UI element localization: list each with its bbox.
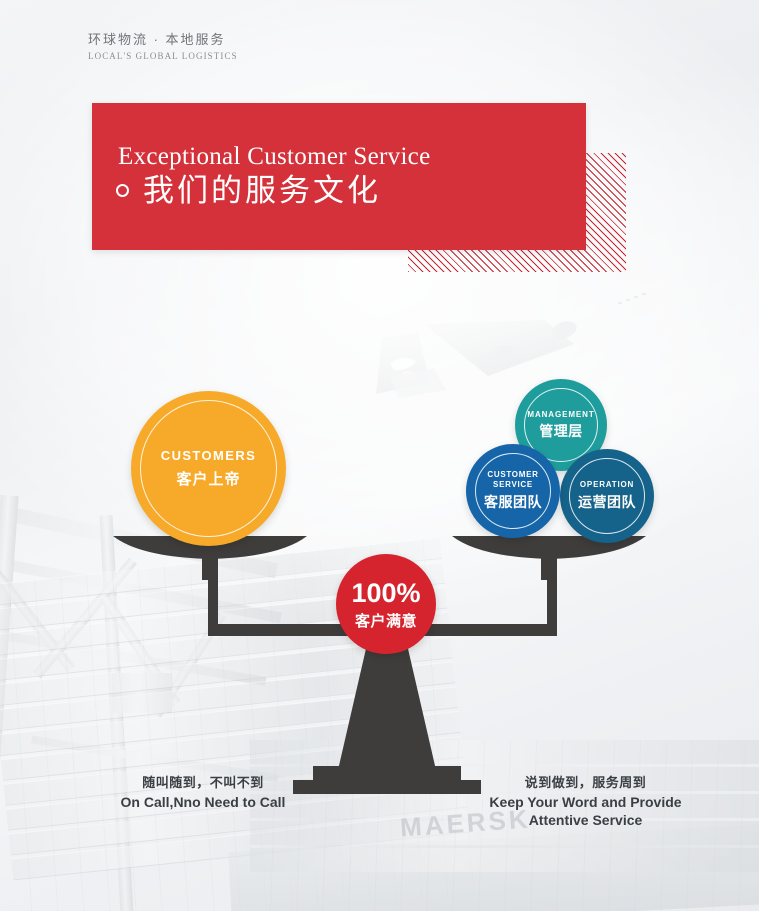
caption-left-english: On Call,Nno Need to Call xyxy=(108,793,298,811)
caption-right-english-line2: Attentive Service xyxy=(529,812,643,828)
caption-left-chinese: 随叫随到，不叫不到 xyxy=(108,772,298,791)
bubble-service-en-line1: CUSTOMER xyxy=(487,470,538,479)
bubble-operation-cn: 运营团队 xyxy=(578,492,636,512)
satisfaction-value: 100% xyxy=(351,578,420,609)
bubble-operation-en: OPERATION xyxy=(580,480,634,489)
caption-right-chinese: 说到做到，服务周到 xyxy=(478,772,693,791)
caption-left: 随叫随到，不叫不到 On Call,Nno Need to Call xyxy=(108,772,298,811)
bubble-customers[interactable]: CUSTOMERS 客户上帝 xyxy=(131,391,286,546)
caption-right-english-line1: Keep Your Word and Provide xyxy=(489,794,681,810)
bubble-operation[interactable]: OPERATION 运营团队 xyxy=(560,449,654,543)
poster-canvas: MAERSK xyxy=(0,0,759,911)
caption-right-english: Keep Your Word and Provide Attentive Ser… xyxy=(478,793,693,829)
logo-chinese-text: 环球物流 · 本地服务 xyxy=(88,30,238,50)
bubble-management-cn: 管理层 xyxy=(539,421,583,441)
brand-logo: 环球物流 · 本地服务 LOCAL'S GLOBAL LOGISTICS xyxy=(88,30,238,61)
bubble-customer-service[interactable]: CUSTOMER SERVICE 客服团队 xyxy=(466,444,560,538)
bubble-customers-cn: 客户上帝 xyxy=(176,468,240,489)
satisfaction-label: 客户满意 xyxy=(355,610,417,631)
logo-english-text: LOCAL'S GLOBAL LOGISTICS xyxy=(88,51,238,61)
caption-right: 说到做到，服务周到 Keep Your Word and Provide Att… xyxy=(478,772,693,829)
bubble-service-en-line2: SERVICE xyxy=(493,480,533,489)
bubble-satisfaction[interactable]: 100% 客户满意 xyxy=(336,554,436,654)
bubble-service-en: CUSTOMER SERVICE xyxy=(487,470,538,490)
bubble-management-en: MANAGEMENT xyxy=(527,410,594,419)
bubble-service-cn: 客服团队 xyxy=(484,492,542,512)
bubble-customers-en: CUSTOMERS xyxy=(161,448,256,463)
